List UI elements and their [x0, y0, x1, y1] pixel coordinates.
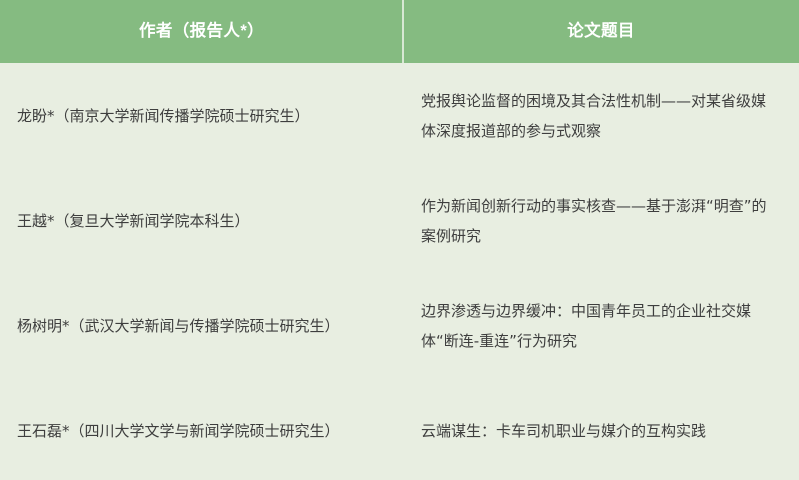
cell-author: 王越*（复旦大学新闻学院本科生）: [0, 168, 403, 273]
paper-session-table: 作者（报告人*） 论文题目 龙盼*（南京大学新闻传播学院硕士研究生） 党报舆论监…: [0, 0, 799, 480]
cell-title: 党报舆论监督的困境及其合法性机制——对某省级媒体深度报道部的参与式观察: [403, 63, 799, 168]
title-text: 边界渗透与边界缓冲：中国青年员工的企业社交媒体“断连-重连”行为研究: [421, 296, 775, 356]
author-text: 王石磊*（四川大学文学与新闻学院硕士研究生）: [17, 416, 340, 446]
cell-title: 作为新闻创新行动的事实核查——基于澎湃“明查”的案例研究: [403, 168, 799, 273]
column-header-title-label: 论文题目: [567, 22, 635, 42]
column-header-title: 论文题目: [403, 0, 799, 63]
cell-author: 龙盼*（南京大学新闻传播学院硕士研究生）: [0, 63, 403, 168]
author-text: 杨树明*（武汉大学新闻与传播学院硕士研究生）: [17, 311, 340, 341]
author-text: 龙盼*（南京大学新闻传播学院硕士研究生）: [17, 101, 310, 131]
cell-title: 边界渗透与边界缓冲：中国青年员工的企业社交媒体“断连-重连”行为研究: [403, 273, 799, 378]
table-row: 杨树明*（武汉大学新闻与传播学院硕士研究生） 边界渗透与边界缓冲：中国青年员工的…: [0, 273, 799, 378]
title-text: 党报舆论监督的困境及其合法性机制——对某省级媒体深度报道部的参与式观察: [421, 86, 775, 146]
table-row: 龙盼*（南京大学新闻传播学院硕士研究生） 党报舆论监督的困境及其合法性机制——对…: [0, 63, 799, 168]
table-body: 龙盼*（南京大学新闻传播学院硕士研究生） 党报舆论监督的困境及其合法性机制——对…: [0, 63, 799, 480]
header-column-divider: [402, 0, 404, 63]
table-row: 王越*（复旦大学新闻学院本科生） 作为新闻创新行动的事实核查——基于澎湃“明查”…: [0, 168, 799, 273]
title-text: 云端谋生：卡车司机职业与媒介的互构实践: [421, 416, 706, 446]
column-header-author-label: 作者（报告人*）: [139, 22, 264, 42]
author-text: 王越*（复旦大学新闻学院本科生）: [17, 206, 250, 236]
column-header-author: 作者（报告人*）: [0, 0, 403, 63]
cell-title: 云端谋生：卡车司机职业与媒介的互构实践: [403, 378, 799, 480]
table-header-row: 作者（报告人*） 论文题目: [0, 0, 799, 63]
cell-author: 王石磊*（四川大学文学与新闻学院硕士研究生）: [0, 378, 403, 480]
title-text: 作为新闻创新行动的事实核查——基于澎湃“明查”的案例研究: [421, 191, 775, 251]
cell-author: 杨树明*（武汉大学新闻与传播学院硕士研究生）: [0, 273, 403, 378]
table-row: 王石磊*（四川大学文学与新闻学院硕士研究生） 云端谋生：卡车司机职业与媒介的互构…: [0, 378, 799, 480]
